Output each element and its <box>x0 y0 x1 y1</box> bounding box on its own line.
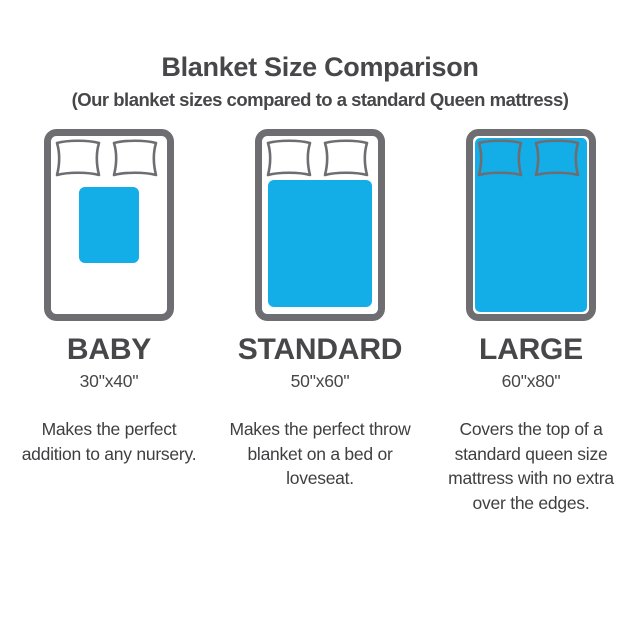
header: Blanket Size Comparison (Our blanket siz… <box>0 0 640 111</box>
comparison-columns: BABY 30"x40" Makes the perfect addition … <box>0 129 640 516</box>
size-name-standard: STANDARD <box>238 335 403 365</box>
size-dimensions-standard: 50"x60" <box>291 373 350 391</box>
blanket-shape-baby <box>79 187 139 263</box>
pillow-right-icon <box>114 141 156 175</box>
bed-illustration-baby <box>44 129 174 321</box>
description-baby: Makes the perfect addition to any nurser… <box>11 417 207 467</box>
description-large: Covers the top of a standard queen size … <box>433 417 629 516</box>
bed-illustration-standard <box>255 129 385 321</box>
size-name-large: LARGE <box>479 335 583 365</box>
blanket-shape-large <box>475 138 587 312</box>
page-subtitle: (Our blanket sizes compared to a standar… <box>0 89 640 111</box>
pillow-left-icon <box>57 141 99 175</box>
description-standard: Makes the perfect throw blanket on a bed… <box>222 417 418 492</box>
column-baby: BABY 30"x40" Makes the perfect addition … <box>6 129 212 466</box>
bed-illustration-large <box>466 129 596 321</box>
pillow-right-icon <box>325 141 367 175</box>
infographic-root: { "header": { "title": "Blanket Size Com… <box>0 0 640 640</box>
size-dimensions-large: 60"x80" <box>502 373 561 391</box>
size-dimensions-baby: 30"x40" <box>80 373 139 391</box>
bed-diagram-baby-svg <box>44 129 174 321</box>
blanket-shape-standard <box>268 180 372 307</box>
page-title: Blanket Size Comparison <box>0 52 640 83</box>
column-large: LARGE 60"x80" Covers the top of a standa… <box>428 129 634 516</box>
pillow-left-icon <box>268 141 310 175</box>
bed-diagram-large-svg <box>466 129 596 321</box>
column-standard: STANDARD 50"x60" Makes the perfect throw… <box>217 129 423 491</box>
bed-diagram-standard-svg <box>255 129 385 321</box>
size-name-baby: BABY <box>67 335 151 365</box>
